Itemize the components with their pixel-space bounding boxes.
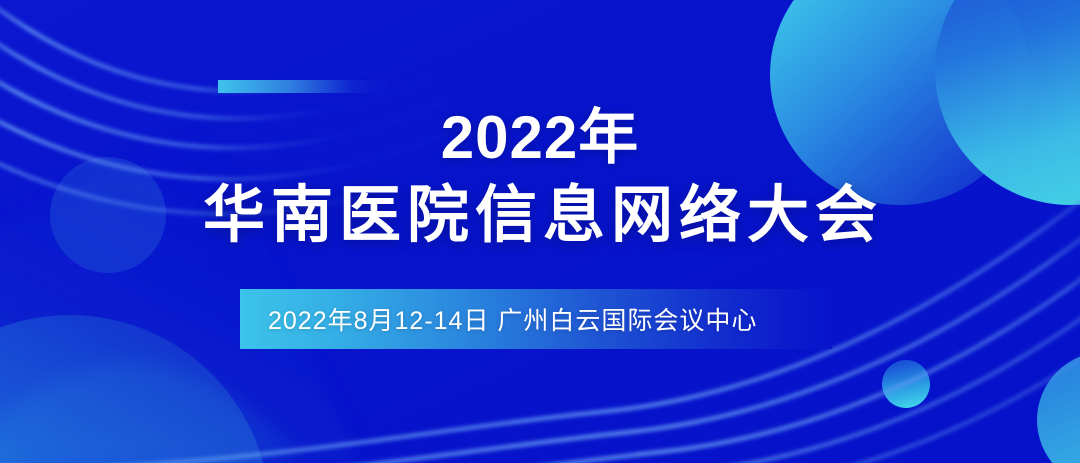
banner-year-line: 2022年	[0, 104, 1080, 172]
subtitle-gradient-bar: 2022年8月12-14日 广州白云国际会议中心	[240, 289, 832, 349]
banner-subtitle: 2022年8月12-14日 广州白云国际会议中心	[240, 301, 757, 337]
accent-gradient-bar	[218, 80, 390, 93]
conference-banner: 2022年 华南医院信息网络大会 2022年8月12-14日 广州白云国际会议中…	[0, 0, 1080, 463]
banner-main-title: 华南医院信息网络大会	[0, 178, 1080, 254]
banner-content: 2022年 华南医院信息网络大会 2022年8月12-14日 广州白云国际会议中…	[0, 0, 1080, 463]
